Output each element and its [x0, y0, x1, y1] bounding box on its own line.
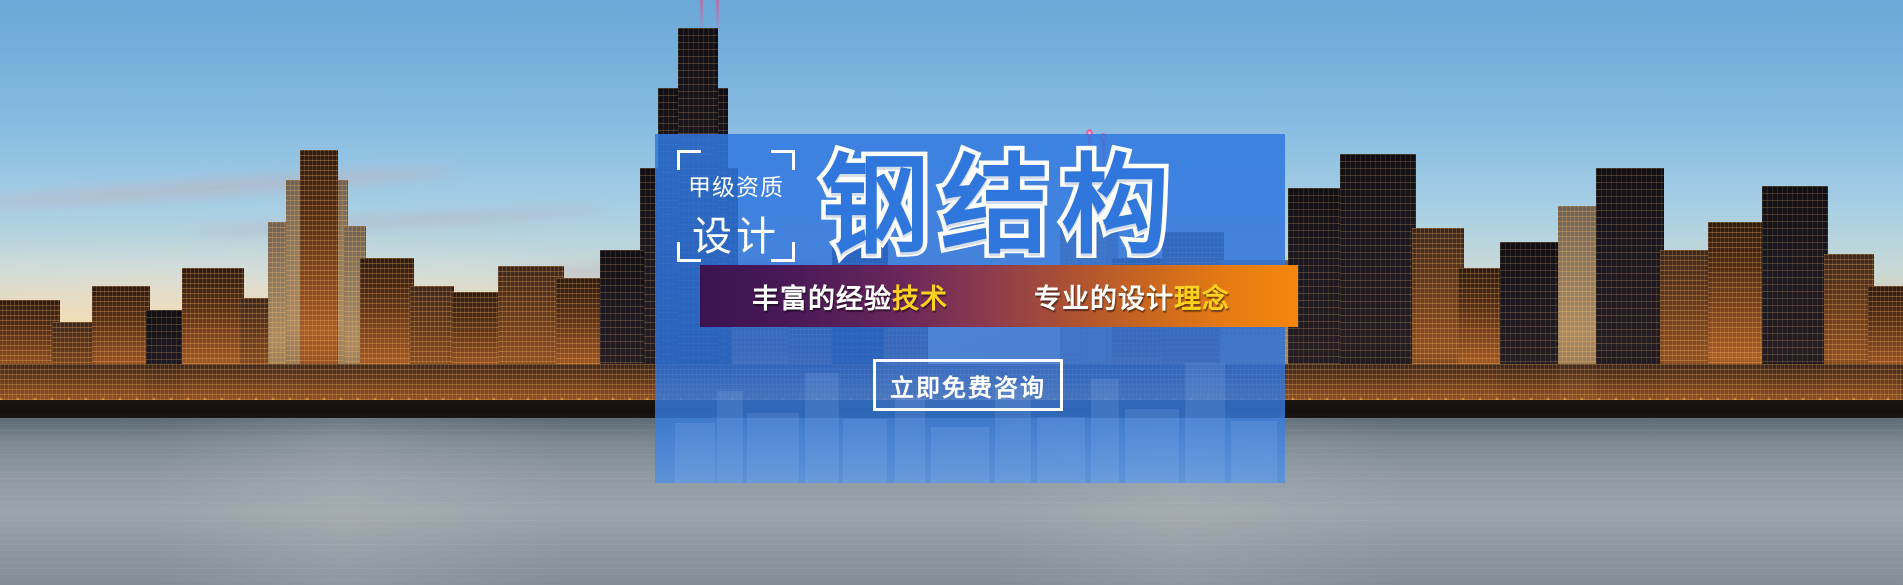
headline-title: 钢结构 [821, 138, 1181, 276]
subtitle-gradient-bar: 丰富的经验 技术 专业的设计 理念 [700, 265, 1298, 327]
subtitle-group-right: 专业的设计 理念 [1034, 277, 1230, 316]
subtitle-right-plain: 专业的设计 [1034, 277, 1174, 316]
subtitle-left-plain: 丰富的经验 [752, 277, 892, 316]
subtitle-group-left: 丰富的经验 技术 [752, 277, 948, 316]
hero-banner: 甲级资质 设计 钢结构 丰富的经验 技术 专业的设计 理念 立即免费咨询 [0, 0, 1903, 585]
subtitle-left-highlight: 技术 [892, 277, 948, 316]
promo-panel: 甲级资质 设计 钢结构 丰富的经验 技术 专业的设计 理念 立即免费咨询 [655, 134, 1285, 483]
corner-bracket-icon [771, 150, 795, 170]
badge-service-text: 设计 [677, 204, 795, 262]
qualification-badge: 甲级资质 设计 [677, 150, 795, 262]
badge-qualification-text: 甲级资质 [677, 168, 795, 202]
free-consultation-button[interactable]: 立即免费咨询 [873, 359, 1063, 411]
free-consultation-label: 立即免费咨询 [890, 368, 1046, 403]
corner-bracket-icon [677, 150, 701, 170]
subtitle-right-highlight: 理念 [1174, 277, 1230, 316]
